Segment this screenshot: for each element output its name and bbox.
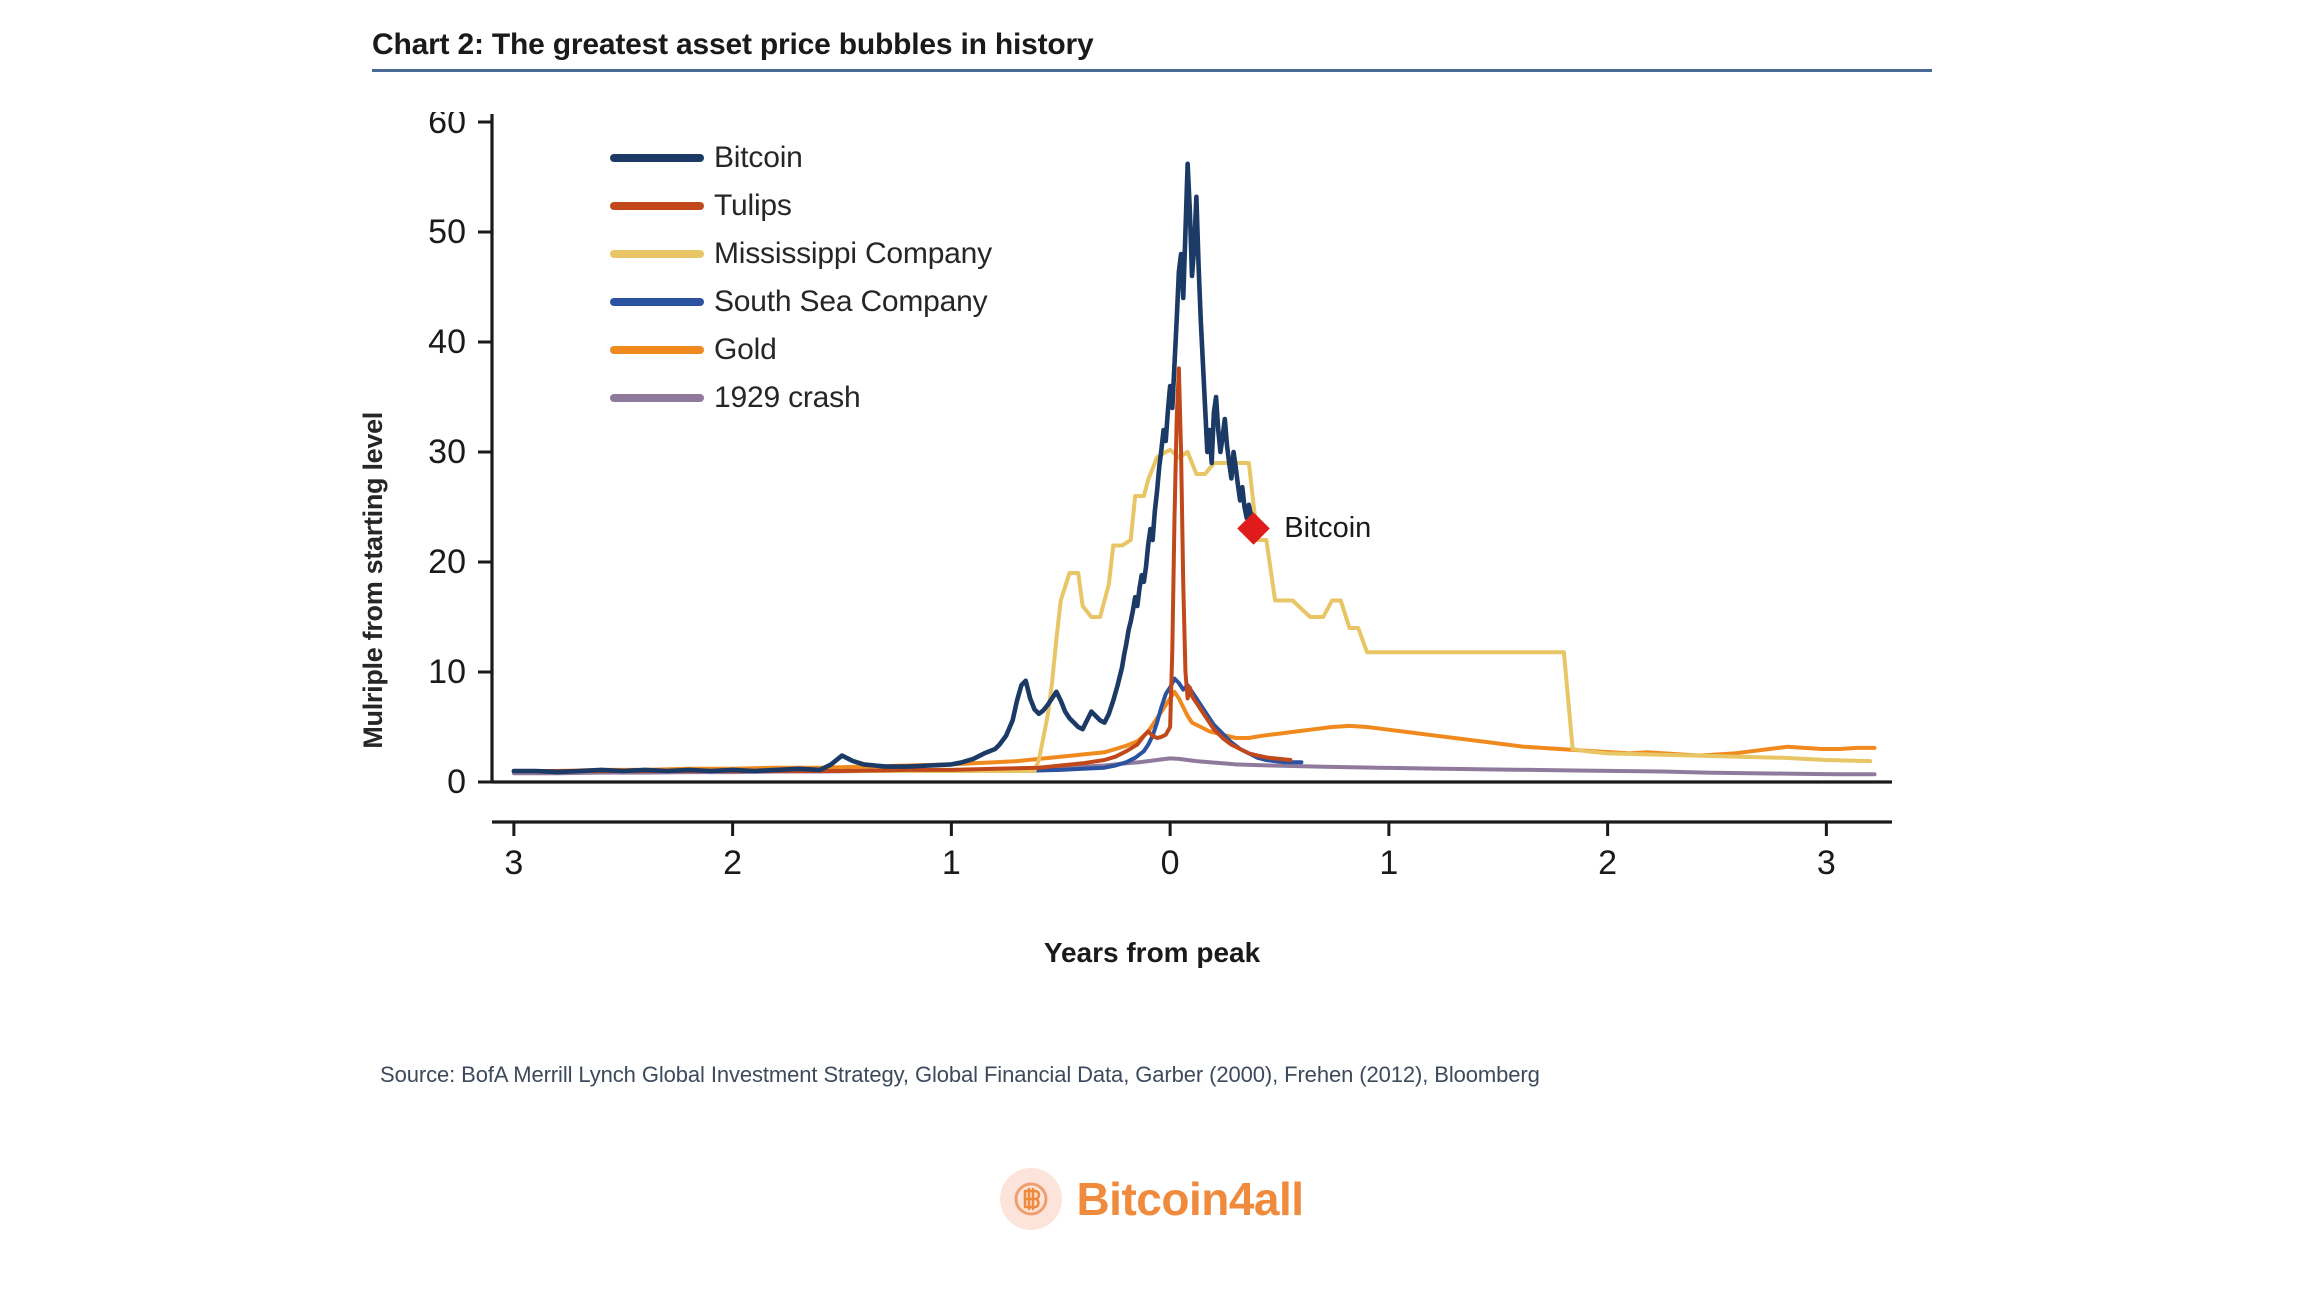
watermark: Bitcoin4all	[0, 1168, 2304, 1230]
y-axis-tick-label: 30	[428, 433, 466, 471]
legend-item: Bitcoin	[610, 134, 992, 182]
bitcoin-annotation: Bitcoin	[1242, 512, 1371, 545]
x-axis-tick-label: 2	[1598, 844, 1617, 882]
legend-item: Gold	[610, 326, 992, 374]
legend-item-label: Mississippi Company	[714, 237, 992, 271]
legend-item-label: Tulips	[714, 189, 792, 223]
legend-item: Mississippi Company	[610, 230, 992, 278]
title-divider	[372, 69, 1932, 72]
chart-legend: BitcoinTulipsMississippi CompanySouth Se…	[610, 134, 992, 422]
legend-swatch-icon	[610, 154, 704, 162]
legend-swatch-icon	[610, 250, 704, 258]
legend-item: Tulips	[610, 182, 992, 230]
chart-plot-area: 01020304050603210123 Mulriple from start…	[372, 112, 1932, 902]
legend-swatch-icon	[610, 298, 704, 306]
red-diamond-marker-icon	[1237, 512, 1270, 545]
title-block: Chart 2: The greatest asset price bubble…	[372, 28, 1932, 72]
x-axis-tick-label: 3	[1817, 844, 1836, 882]
y-axis-tick-label: 50	[428, 213, 466, 251]
y-axis-tick-label: 60	[428, 112, 466, 141]
legend-swatch-icon	[610, 346, 704, 354]
x-axis-tick-label: 1	[942, 844, 961, 882]
bitcoin-glyph-icon	[1012, 1180, 1050, 1218]
chart-svg: 01020304050603210123	[372, 112, 1932, 902]
series-line-tulips	[514, 368, 1291, 771]
legend-item: 1929 crash	[610, 374, 992, 422]
x-axis-tick-label: 3	[504, 844, 523, 882]
watermark-text: Bitcoin4all	[1076, 1172, 1303, 1226]
x-axis-tick-label: 1	[1379, 844, 1398, 882]
x-axis-tick-label: 0	[1161, 844, 1180, 882]
y-axis-tick-label: 40	[428, 323, 466, 361]
legend-item-label: Bitcoin	[714, 141, 803, 175]
page-title: Chart 2: The greatest asset price bubble…	[372, 28, 1932, 69]
bitcoin-circle-icon	[1000, 1168, 1062, 1230]
y-axis-tick-label: 20	[428, 543, 466, 581]
legend-item-label: Gold	[714, 333, 777, 367]
y-axis-tick-label: 10	[428, 653, 466, 691]
legend-item-label: 1929 crash	[714, 381, 860, 415]
x-axis-label: Years from peak	[372, 937, 1932, 969]
x-axis-tick-label: 2	[723, 844, 742, 882]
chart-page: Chart 2: The greatest asset price bubble…	[0, 0, 2304, 1296]
legend-swatch-icon	[610, 394, 704, 402]
legend-swatch-icon	[610, 202, 704, 210]
series-line-south-sea-company	[514, 679, 1302, 771]
legend-item: South Sea Company	[610, 278, 992, 326]
y-axis-label: Mulriple from starting level	[358, 412, 389, 749]
source-note: Source: BofA Merrill Lynch Global Invest…	[380, 1062, 1540, 1088]
legend-item-label: South Sea Company	[714, 285, 987, 319]
y-axis-tick-label: 0	[447, 763, 466, 801]
bitcoin-annotation-label: Bitcoin	[1284, 512, 1371, 545]
